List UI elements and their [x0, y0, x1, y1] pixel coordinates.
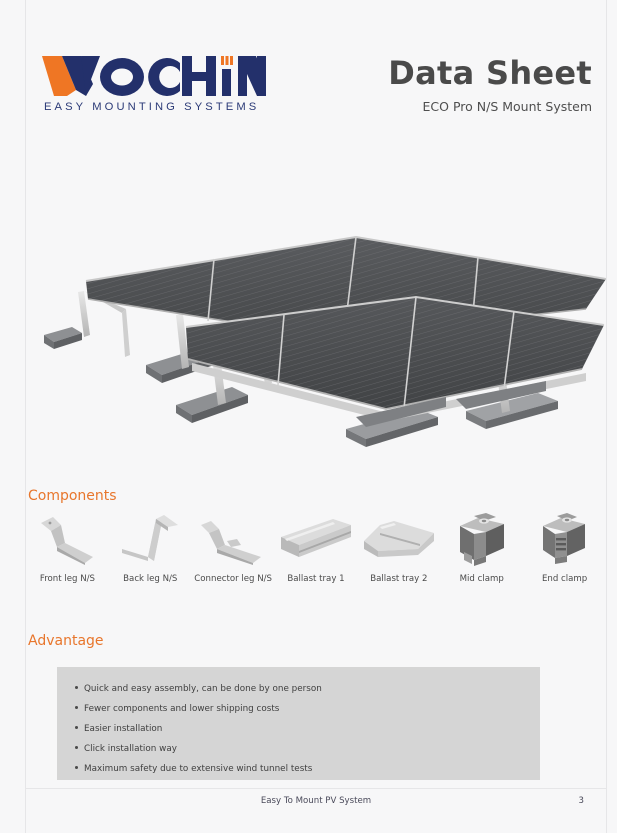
bullet-icon: [75, 746, 78, 749]
connector-leg-icon: [192, 508, 275, 570]
page-header: EASY MOUNTING SYSTEMS Data Sheet ECO Pro…: [25, 0, 606, 165]
component-ballast-tray-2: Ballast tray 2: [357, 508, 440, 584]
datasheet-page: EASY MOUNTING SYSTEMS Data Sheet ECO Pro…: [0, 0, 617, 833]
end-clamp-icon: [523, 508, 606, 570]
component-label: Back leg N/S: [123, 574, 177, 584]
brand-tagline: EASY MOUNTING SYSTEMS: [40, 101, 280, 113]
component-label: Mid clamp: [460, 574, 504, 584]
hero-product-image: [26, 197, 606, 462]
page-title: Data Sheet: [388, 56, 592, 91]
advantage-list: Quick and easy assembly, can be done by …: [57, 667, 540, 780]
advantage-item-text: Maximum safety due to extensive wind tun…: [84, 764, 312, 774]
footer-text: Easy To Mount PV System: [26, 796, 606, 806]
component-front-leg: Front leg N/S: [26, 508, 109, 584]
advantage-item: Maximum safety due to extensive wind tun…: [57, 759, 540, 779]
advantage-item-text: Easier installation: [84, 724, 162, 734]
solar-array-illustration: [26, 197, 606, 462]
wochin-logo-icon: [40, 52, 268, 98]
page-footer: Easy To Mount PV System 3: [26, 796, 606, 816]
advantage-heading: Advantage: [28, 633, 104, 649]
page-subtitle: ECO Pro N/S Mount System: [388, 99, 592, 114]
bullet-icon: [75, 706, 78, 709]
component-label: Connector leg N/S: [194, 574, 272, 584]
advantage-item-text: Click installation way: [84, 744, 177, 754]
back-leg-icon: [109, 508, 192, 570]
page-margin-rule-right: [606, 0, 607, 833]
mid-clamp-icon: [440, 508, 523, 570]
advantage-item-text: Fewer components and lower shipping cost…: [84, 704, 279, 714]
title-block: Data Sheet ECO Pro N/S Mount System: [388, 56, 592, 114]
advantage-item: Quick and easy assembly, can be done by …: [57, 679, 540, 699]
footer-page-number: 3: [579, 796, 584, 806]
bullet-icon: [75, 726, 78, 729]
advantage-item: Easier installation: [57, 719, 540, 739]
component-ballast-tray-1: Ballast tray 1: [275, 508, 358, 584]
ballast-tray-1-icon: [275, 508, 358, 570]
component-label: Ballast tray 1: [287, 574, 344, 584]
component-label: End clamp: [542, 574, 587, 584]
components-row: Front leg N/S Back leg N/S: [26, 508, 606, 600]
advantage-item: Fewer components and lower shipping cost…: [57, 699, 540, 719]
footer-divider: [26, 788, 606, 789]
bullet-icon: [75, 766, 78, 769]
component-back-leg: Back leg N/S: [109, 508, 192, 584]
component-connector-leg: Connector leg N/S: [192, 508, 275, 584]
component-end-clamp: End clamp: [523, 508, 606, 584]
advantage-item-text: Quick and easy assembly, can be done by …: [84, 684, 322, 694]
ballast-tray-2-icon: [357, 508, 440, 570]
component-label: Front leg N/S: [40, 574, 95, 584]
advantage-item: Click installation way: [57, 739, 540, 759]
component-mid-clamp: Mid clamp: [440, 508, 523, 584]
bullet-icon: [75, 686, 78, 689]
components-heading: Components: [28, 488, 117, 504]
brand-logo: EASY MOUNTING SYSTEMS: [40, 52, 280, 113]
front-leg-icon: [26, 508, 109, 570]
component-label: Ballast tray 2: [370, 574, 427, 584]
